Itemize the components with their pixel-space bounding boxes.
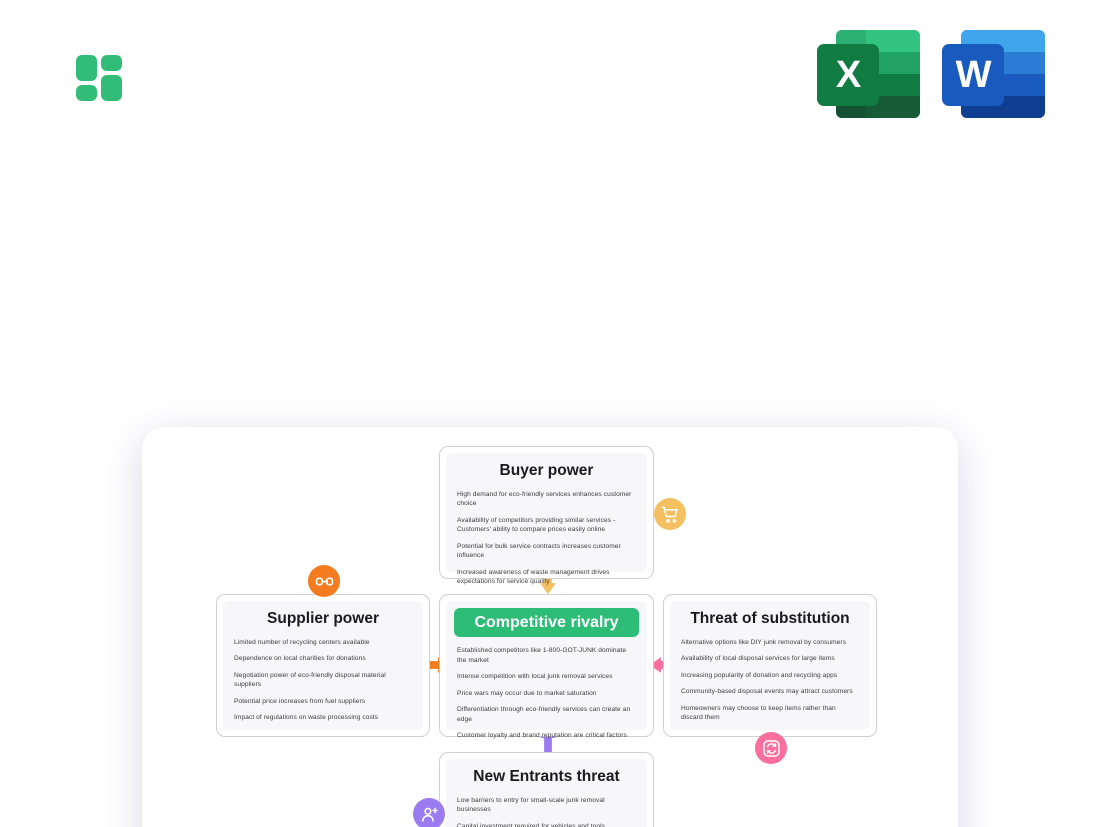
list-item: Potential price increases from fuel supp… <box>234 697 412 707</box>
list-item: Impact of regulations on waste processin… <box>234 713 412 723</box>
slide-canvas: X W COVIVIO Porter's Five Forces Analysi… <box>0 0 1100 827</box>
add-user-icon <box>413 798 445 827</box>
excel-letter: X <box>817 44 879 106</box>
list-item: High demand for eco-friendly services en… <box>457 490 636 509</box>
list-item: Established competitors like 1-800-GOT-J… <box>457 646 636 665</box>
grid-logo-icon <box>76 55 122 101</box>
five-forces-diagram: Buyer power High demand for eco-friendly… <box>142 427 958 827</box>
list-item: Customer loyalty and brand reputation ar… <box>457 731 636 741</box>
list-item: Capital investment required for vehicles… <box>457 822 636 827</box>
list-item: Negotiation power of eco-friendly dispos… <box>234 671 412 690</box>
list-item: Community-based disposal events may attr… <box>681 687 859 697</box>
force-points-rivalry: Established competitors like 1-800-GOT-J… <box>457 646 636 741</box>
sync-icon <box>755 732 787 764</box>
force-title-supplier: Supplier power <box>234 610 412 629</box>
force-title-rivalry: Competitive rivalry <box>454 608 639 637</box>
app-icon-group: X W <box>817 30 1045 118</box>
brand-name: COVIVIO <box>0 224 1100 268</box>
force-points-entrants: Low barriers to entry for small-scale ju… <box>457 796 636 827</box>
list-item: Differentiation through eco-friendly ser… <box>457 705 636 724</box>
list-item: Alternative options like DIY junk remova… <box>681 638 859 648</box>
link-icon <box>308 565 340 597</box>
force-box-entrants[interactable]: New Entrants threat Low barriers to entr… <box>439 752 654 827</box>
word-icon[interactable]: W <box>942 30 1045 118</box>
brand-logo <box>54 33 144 123</box>
list-item: Increasing popularity of donation and re… <box>681 671 859 681</box>
force-title-substitution: Threat of substitution <box>681 610 859 629</box>
title-block: COVIVIO Porter's Five Forces Analysis <box>0 224 1100 341</box>
list-item: Price wars may occur due to market satur… <box>457 689 636 699</box>
force-box-substitution[interactable]: Threat of substitution Alternative optio… <box>663 594 877 737</box>
list-item: Intense competition with local junk remo… <box>457 672 636 682</box>
force-points-buyer: High demand for eco-friendly services en… <box>457 490 636 587</box>
list-item: Low barriers to entry for small-scale ju… <box>457 796 636 815</box>
word-letter: W <box>942 44 1004 106</box>
list-item: Increased awareness of waste management … <box>457 568 636 587</box>
list-item: Availability of local disposal services … <box>681 654 859 664</box>
force-points-substitution: Alternative options like DIY junk remova… <box>681 638 859 723</box>
list-item: Homeowners may choose to keep items rath… <box>681 704 859 723</box>
list-item: Potential for bulk service contracts inc… <box>457 542 636 561</box>
shopping-cart-icon <box>654 498 686 530</box>
list-item: Dependence on local charities for donati… <box>234 654 412 664</box>
page-title: Porter's Five Forces Analysis <box>0 292 1100 341</box>
force-box-supplier[interactable]: Supplier power Limited number of recycli… <box>216 594 430 737</box>
force-title-entrants: New Entrants threat <box>457 768 636 787</box>
force-box-rivalry[interactable]: Competitive rivalry Established competit… <box>439 594 654 737</box>
list-item: Availability of competitors providing si… <box>457 516 636 535</box>
force-box-buyer[interactable]: Buyer power High demand for eco-friendly… <box>439 446 654 579</box>
force-points-supplier: Limited number of recycling centers avai… <box>234 638 412 723</box>
diagram-card: Buyer power High demand for eco-friendly… <box>142 427 958 827</box>
force-title-buyer: Buyer power <box>457 462 636 481</box>
list-item: Limited number of recycling centers avai… <box>234 638 412 648</box>
excel-icon[interactable]: X <box>817 30 920 118</box>
